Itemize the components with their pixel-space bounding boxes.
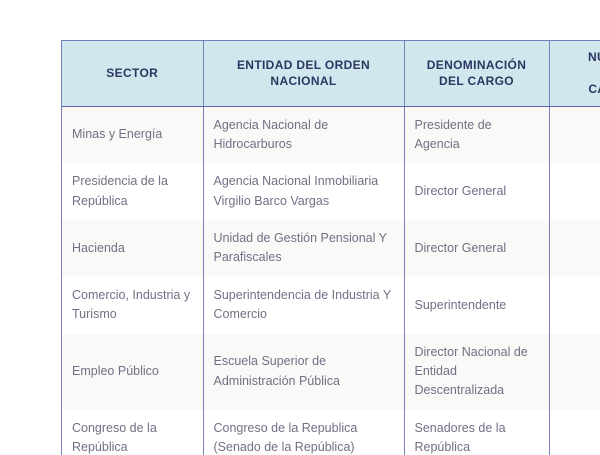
table-row: Empleo PúblicoEscuela Superior de Admini… [62, 334, 600, 410]
cell-sector: Empleo Público [62, 334, 203, 410]
cell-numero: 1 [549, 277, 600, 334]
column-header-sector[interactable]: SECTOR [62, 41, 203, 106]
column-header-entidad[interactable]: ENTIDAD DEL ORDEN NACIONAL [203, 41, 404, 106]
column-header-cargo[interactable]: DENOMINACIÓN DEL CARGO [404, 41, 549, 106]
cell-cargo: Director General [404, 163, 549, 220]
cell-cargo: Director Nacional de Entidad Descentrali… [404, 334, 549, 410]
page: SECTOR ENTIDAD DEL ORDEN NACIONAL DENOMI… [0, 0, 600, 455]
column-header-numero[interactable]: NÚMERO DE CARGOS [549, 41, 600, 106]
cell-sector: Comercio, Industria y Turismo [62, 277, 203, 334]
table-body: Minas y EnergíaAgencia Nacional de Hidro… [62, 106, 600, 455]
cell-cargo: Senadores de la República [404, 410, 549, 455]
cell-entidad: Agencia Nacional Inmobiliaria Virgilio B… [203, 163, 404, 220]
cell-numero: 108 [549, 410, 600, 455]
cell-sector: Congreso de la República [62, 410, 203, 455]
cell-entidad: Superintendencia de Industria Y Comercio [203, 277, 404, 334]
cargos-orden-nacional-table: SECTOR ENTIDAD DEL ORDEN NACIONAL DENOMI… [62, 41, 600, 455]
table-header: SECTOR ENTIDAD DEL ORDEN NACIONAL DENOMI… [62, 41, 600, 106]
table-row: Presidencia de la RepúblicaAgencia Nacio… [62, 163, 600, 220]
cell-numero: 1 [549, 163, 600, 220]
cell-cargo: Superintendente [404, 277, 549, 334]
cell-entidad: Agencia Nacional de Hidrocarburos [203, 106, 404, 163]
cell-sector: Minas y Energía [62, 106, 203, 163]
table-row: Comercio, Industria y TurismoSuperintend… [62, 277, 600, 334]
table-row: Minas y EnergíaAgencia Nacional de Hidro… [62, 106, 600, 163]
cell-cargo: Director General [404, 220, 549, 277]
cell-sector: Hacienda [62, 220, 203, 277]
cell-entidad: Escuela Superior de Administración Públi… [203, 334, 404, 410]
cell-cargo: Presidente de Agencia [404, 106, 549, 163]
cell-sector: Presidencia de la República [62, 163, 203, 220]
cell-entidad: Unidad de Gestión Pensional Y Parafiscal… [203, 220, 404, 277]
cell-entidad: Congreso de la Republica (Senado de la R… [203, 410, 404, 455]
cell-numero: 1 [549, 220, 600, 277]
cell-numero: 1 [549, 106, 600, 163]
table-row: HaciendaUnidad de Gestión Pensional Y Pa… [62, 220, 600, 277]
table-row: Congreso de la RepúblicaCongreso de la R… [62, 410, 600, 455]
table-container: SECTOR ENTIDAD DEL ORDEN NACIONAL DENOMI… [61, 40, 600, 455]
table-header-row: SECTOR ENTIDAD DEL ORDEN NACIONAL DENOMI… [62, 41, 600, 106]
cell-numero: 1 [549, 334, 600, 410]
